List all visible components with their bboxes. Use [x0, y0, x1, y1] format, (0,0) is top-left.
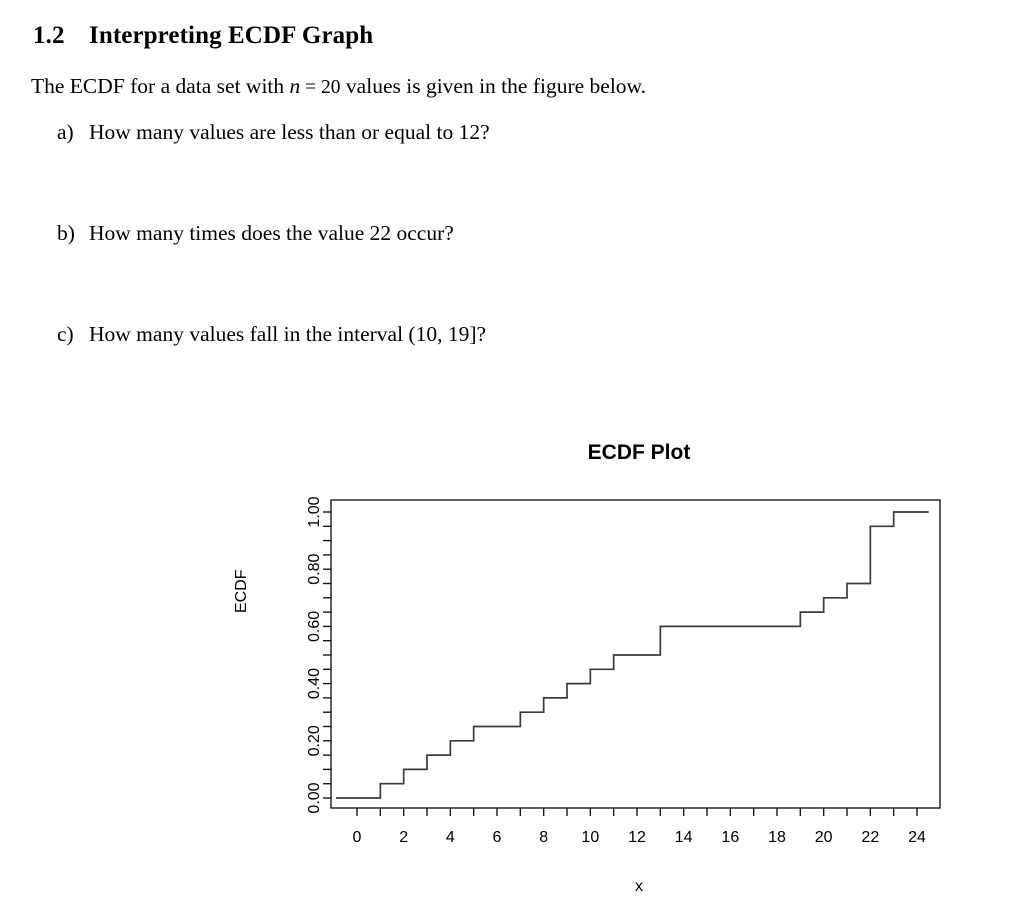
plot-frame	[331, 500, 940, 808]
ecdf-figure: ECDF Plot ECDF x 0246810121416182022240.…	[0, 0, 1024, 917]
x-tick-label-22: 22	[861, 829, 879, 846]
x-tick-label-14: 14	[675, 829, 693, 846]
x-tick-label-10: 10	[581, 829, 599, 846]
x-tick-label-4: 4	[446, 829, 455, 846]
x-tick-label-6: 6	[493, 829, 502, 846]
y-tick-label-0.80: 0.80	[306, 554, 323, 585]
y-tick-label-0.00: 0.00	[306, 782, 323, 813]
x-tick-label-16: 16	[721, 829, 739, 846]
x-tick-label-2: 2	[399, 829, 408, 846]
x-tick-label-0: 0	[353, 829, 362, 846]
worksheet-page: 1.2Interpreting ECDF Graph The ECDF for …	[0, 0, 1024, 917]
x-tick-label-8: 8	[539, 829, 548, 846]
x-tick-label-12: 12	[628, 829, 646, 846]
x-tick-label-24: 24	[908, 829, 926, 846]
y-tick-label-0.20: 0.20	[306, 725, 323, 756]
ecdf-step-curve	[336, 512, 929, 798]
y-tick-label-0.60: 0.60	[306, 611, 323, 642]
y-tick-label-1.00: 1.00	[306, 496, 323, 527]
ecdf-chart: 0246810121416182022240.000.200.400.600.8…	[0, 0, 1024, 917]
x-tick-label-18: 18	[768, 829, 786, 846]
y-tick-label-0.40: 0.40	[306, 668, 323, 699]
x-tick-label-20: 20	[815, 829, 833, 846]
